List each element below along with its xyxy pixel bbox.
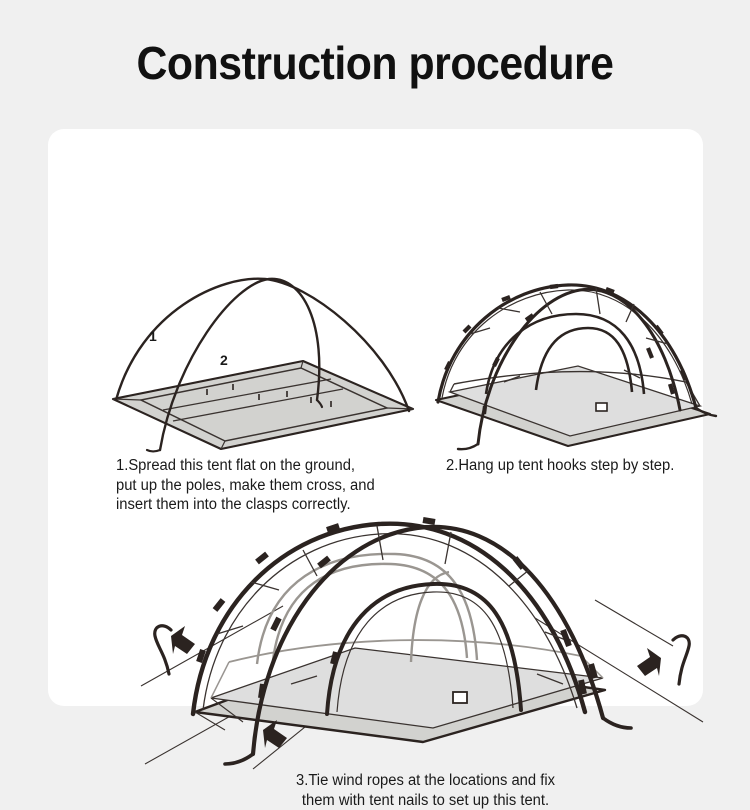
pole-label-1: 1 — [149, 328, 157, 344]
procedure-card: 1 2 — [48, 129, 703, 706]
tent-nail-right — [673, 636, 689, 684]
stake-arrow-right — [637, 648, 661, 676]
step-3-caption: 3.Tie wind ropes at the locations and fi… — [231, 771, 620, 810]
tent-footprint — [113, 361, 413, 449]
tent-floor — [436, 366, 710, 446]
step-2-caption: 2.Hang up tent hooks step by step. — [446, 456, 724, 476]
tent-hooks-attached-diagram — [428, 274, 738, 454]
floor-buckle-tab — [596, 403, 607, 411]
procedure-page: Construction procedure — [0, 0, 750, 750]
tent-nail-left — [155, 626, 171, 674]
floor-buckle-tab — [453, 692, 467, 703]
stake-arrow-left-upper — [171, 626, 195, 654]
pole-label-2: 2 — [220, 352, 228, 368]
tent-guyline-staking-diagram — [133, 514, 718, 769]
tent-flat-with-poles-diagram: 1 2 — [103, 269, 423, 454]
step-1-caption: 1.Spread this tent flat on the ground, p… — [116, 456, 409, 515]
page-title: Construction procedure — [26, 36, 724, 90]
